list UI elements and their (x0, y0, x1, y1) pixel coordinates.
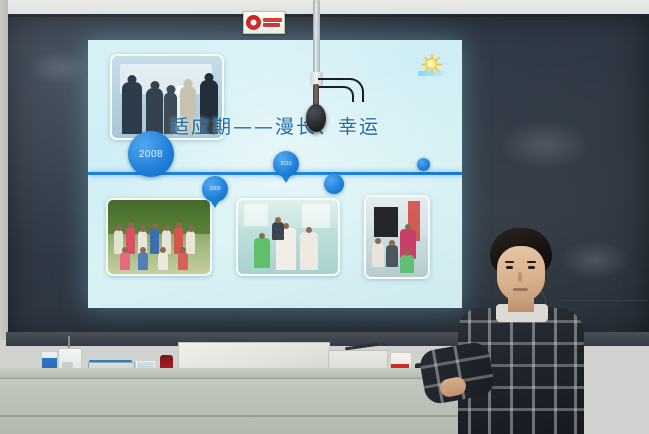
timeline-node-label: 2009 (209, 186, 220, 192)
safety-notice-sign (243, 11, 285, 34)
desk-front-panel (0, 379, 468, 434)
chalk-smudge (30, 50, 90, 86)
chalk-smudge (500, 120, 590, 170)
safety-notice-line-2 (263, 23, 280, 27)
classroom-scene: 2008 2009 2010 适应期——漫长、幸运 (0, 0, 649, 434)
timeline-node-label: 2010 (280, 161, 291, 167)
slide-photo-teacher (364, 195, 430, 279)
presenter-eye-left (506, 266, 513, 269)
timeline-node-2010: 2010 (273, 151, 299, 177)
timeline-node-label: 2008 (139, 149, 163, 160)
slide-photo-classroom (236, 198, 340, 276)
presenter-eyebrow-right (527, 261, 536, 263)
microphone-head-icon (306, 104, 326, 132)
desk-item-blue-container-lid (42, 352, 57, 358)
timeline-node-2009: 2009 (202, 176, 228, 202)
timeline-node-dot-1 (324, 174, 344, 194)
timeline-node-tail (210, 200, 220, 208)
wall-left-edge (0, 0, 8, 340)
microphone-pole (313, 0, 320, 78)
timeline-node-dot-2 (417, 158, 430, 171)
desk-panel-seam (0, 415, 468, 417)
safety-notice-text (263, 18, 282, 27)
presenter-eyebrow-left (505, 261, 514, 263)
safety-notice-line-1 (263, 18, 282, 22)
projected-slide: 2008 2009 2010 适应期——漫长、幸运 (88, 40, 462, 308)
blackboard-frame-top (6, 14, 649, 17)
presenter-mouth (513, 288, 528, 291)
microphone-cable-secondary (318, 86, 354, 102)
slide-title: 适应期——漫长、幸运 (88, 112, 462, 139)
presenter-nose (518, 272, 522, 282)
sun-logo-icon (418, 54, 444, 80)
slide-photo-children-outdoor (106, 198, 212, 276)
presenter-eye-right (528, 266, 535, 269)
warning-badge-icon (246, 15, 261, 30)
presenter (440, 228, 605, 434)
timeline-node-tail (281, 175, 291, 183)
